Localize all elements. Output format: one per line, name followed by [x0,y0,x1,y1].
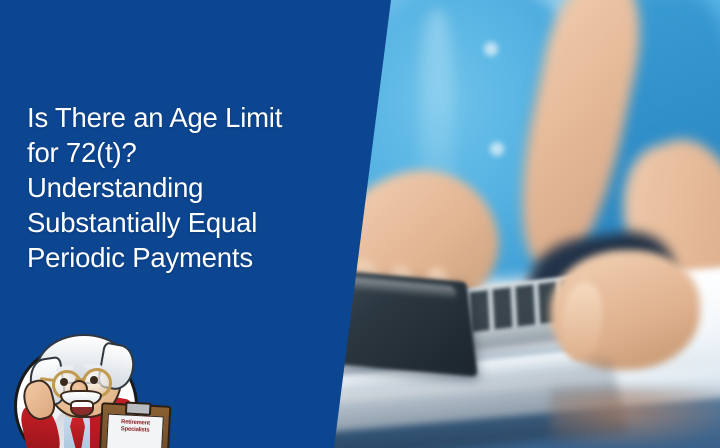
mascot-eye-left [60,378,68,386]
mascot-eye-right [90,376,98,384]
clipboard-clip [125,401,152,415]
mascot-teeth [72,402,92,407]
clipboard-paper: Retirement Specialists [106,414,164,448]
hand-reflection [550,388,720,448]
hero-banner: Is There an Age Limit for 72(t)? Underst… [0,0,720,448]
shirt-button [484,42,498,56]
mascot-mouth [70,400,94,417]
clipboard-brand-line-2: Specialists [109,425,161,435]
mascot-clipboard: Retirement Specialists [99,402,172,448]
page-title: Is There an Age Limit for 72(t)? Underst… [27,100,347,275]
logo-mascot[interactable]: Retirement Specialists [8,322,168,448]
shirt-button [490,142,504,156]
